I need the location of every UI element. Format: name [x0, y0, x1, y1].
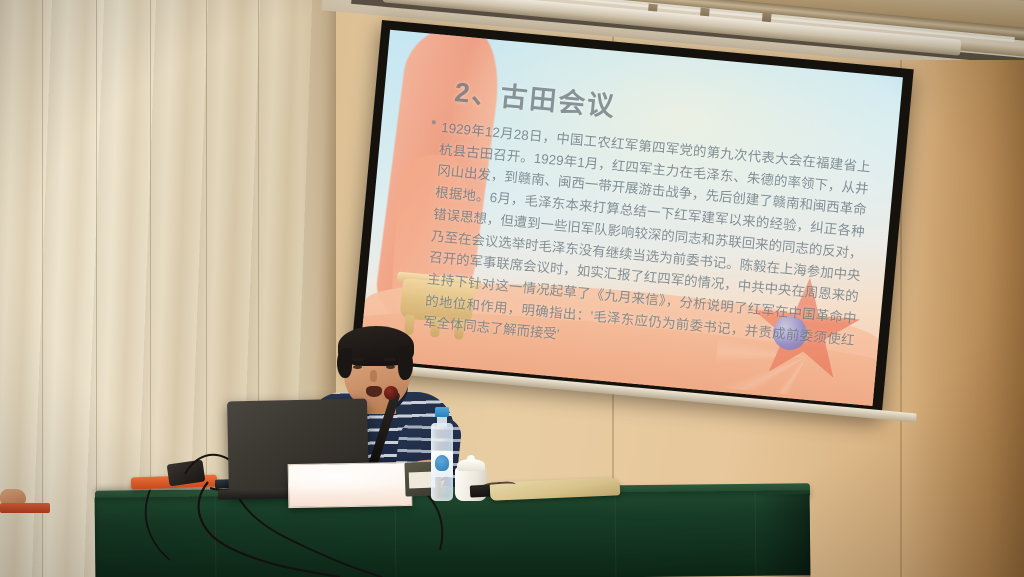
- microphone-icon: [384, 386, 398, 400]
- eyebrow: [384, 358, 396, 361]
- bottle-logo-icon: [435, 455, 449, 471]
- curtain-fold: [42, 0, 43, 577]
- presenter-hair: [337, 348, 352, 378]
- wall-shadow: [900, 0, 1024, 577]
- eye: [386, 365, 395, 369]
- nose: [370, 370, 377, 382]
- eye: [353, 365, 362, 369]
- water-bottle: [429, 407, 455, 501]
- slide-body-text: 1929年12月28日，中国工农红军第四军党的第九次代表大会在福建省上杭县古田召…: [422, 117, 871, 373]
- bottle-cap: [435, 407, 449, 417]
- mouth: [366, 386, 382, 397]
- lecture-hall-photo: 2、古田会议 1929年12月28日，中国工农红军第四军党的第九次代表大会在福建…: [0, 0, 1024, 577]
- name-placard: [288, 462, 413, 508]
- red-object: [0, 503, 50, 513]
- eyebrow: [352, 358, 364, 361]
- presenter-hair: [398, 348, 413, 380]
